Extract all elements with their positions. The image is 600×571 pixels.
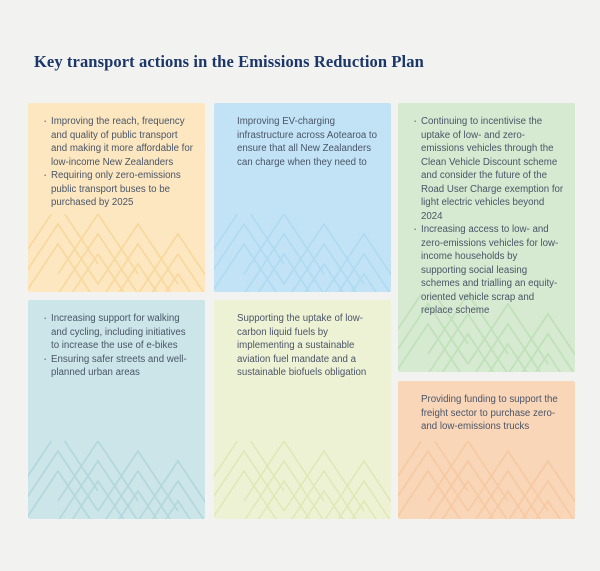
chevron-pattern [214, 214, 391, 292]
bullet-list: Continuing to incentivise the uptake of … [412, 115, 565, 318]
card-low-carbon-fuels-text: Supporting the uptake of low-carbon liqu… [228, 312, 381, 380]
card-public-transport: Improving the reach, frequency and quali… [28, 103, 205, 292]
card-text-body: Providing funding to support the freight… [412, 393, 565, 434]
list-item: Requiring only zero-emissions public tra… [42, 169, 195, 210]
card-vehicle-uptake: Continuing to incentivise the uptake of … [398, 103, 575, 372]
card-low-carbon-fuels: Supporting the uptake of low-carbon liqu… [214, 300, 391, 519]
list-item: Increasing access to low- and zero-emiss… [412, 223, 565, 318]
list-item: Ensuring safer streets and well-planned … [42, 353, 195, 380]
card-active-travel: Increasing support for walking and cycli… [28, 300, 205, 519]
card-freight-text: Providing funding to support the freight… [412, 393, 565, 434]
chevron-pattern [28, 441, 205, 519]
card-ev-charging-text: Improving EV-charging infrastructure acr… [228, 115, 381, 169]
page-title: Key transport actions in the Emissions R… [34, 52, 574, 72]
chevron-pattern [28, 214, 205, 292]
list-item: Continuing to incentivise the uptake of … [412, 115, 565, 223]
list-item: Increasing support for walking and cycli… [42, 312, 195, 353]
card-text-body: Improving EV-charging infrastructure acr… [228, 115, 381, 169]
list-item: Improving the reach, frequency and quali… [42, 115, 195, 169]
card-ev-charging: Improving EV-charging infrastructure acr… [214, 103, 391, 292]
card-active-travel-text: Increasing support for walking and cycli… [42, 312, 195, 380]
card-text-body: Supporting the uptake of low-carbon liqu… [228, 312, 381, 380]
infographic-root: Key transport actions in the Emissions R… [0, 0, 600, 571]
bullet-list: Improving the reach, frequency and quali… [42, 115, 195, 210]
bullet-list: Increasing support for walking and cycli… [42, 312, 195, 380]
chevron-pattern [398, 441, 575, 519]
card-freight: Providing funding to support the freight… [398, 381, 575, 519]
chevron-pattern [214, 441, 391, 519]
card-public-transport-text: Improving the reach, frequency and quali… [42, 115, 195, 210]
card-vehicle-uptake-text: Continuing to incentivise the uptake of … [412, 115, 565, 318]
